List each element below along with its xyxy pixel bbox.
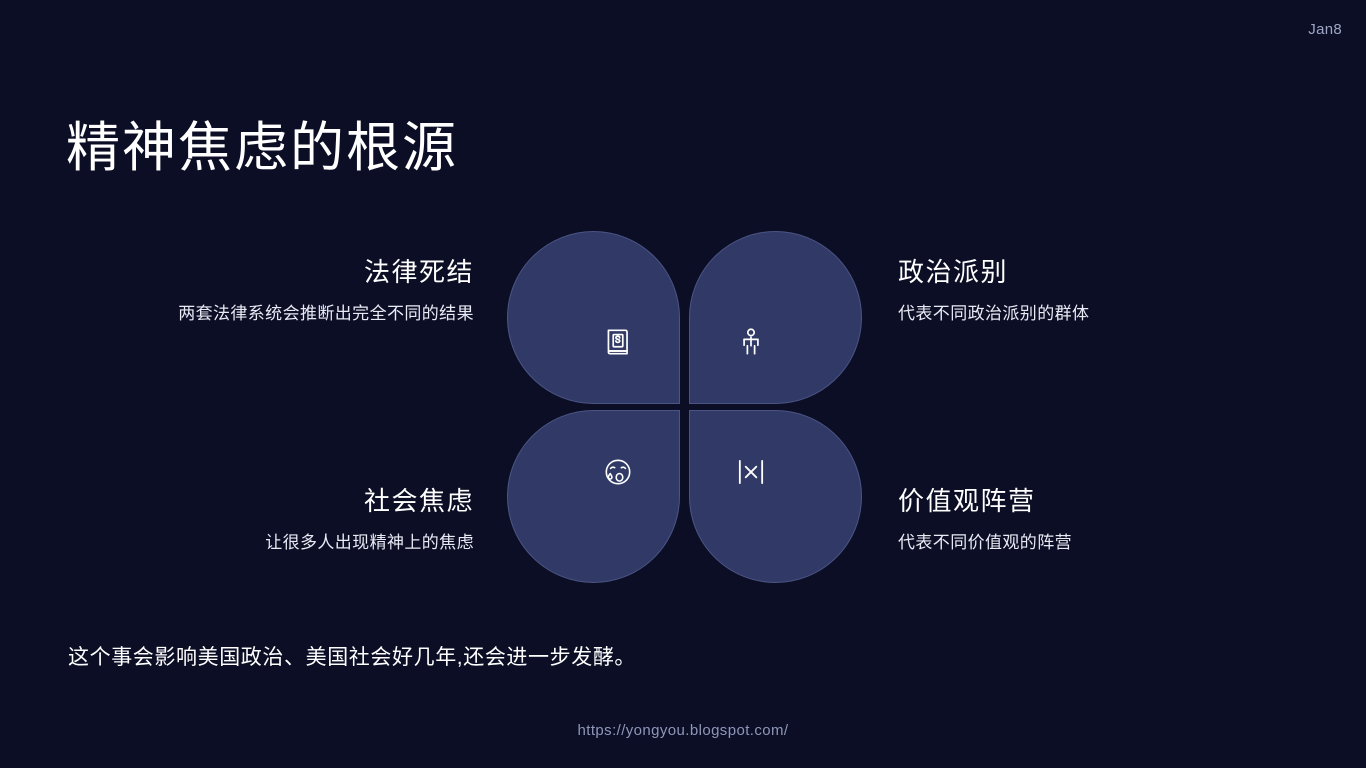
person-icon xyxy=(734,325,768,359)
quadrant-description: 两套法律系统会推断出完全不同的结果 xyxy=(178,303,474,325)
footer-source-url[interactable]: https://yongyou.blogspot.com/ xyxy=(0,722,1366,739)
quadrant-description: 代表不同价值观的阵营 xyxy=(898,532,1072,554)
slide-caption: 这个事会影响美国政治、美国社会好几年,还会进一步发酵。 xyxy=(68,644,636,671)
date-badge: Jan8 xyxy=(1308,22,1342,37)
quadrant-description: 代表不同政治派别的群体 xyxy=(898,303,1089,325)
quadrant-label-top-right: 政治派别 代表不同政治派别的群体 xyxy=(898,256,1089,325)
quadrant-label-bottom-right: 价值观阵营 代表不同价值观的阵营 xyxy=(898,485,1072,554)
clover-diagram xyxy=(507,231,862,583)
quadrant-heading: 价值观阵营 xyxy=(898,485,1072,518)
petal-top-right[interactable] xyxy=(689,231,862,404)
quadrant-heading: 政治派别 xyxy=(898,256,1089,289)
quadrant-label-top-left: 法律死结 两套法律系统会推断出完全不同的结果 xyxy=(178,256,474,325)
quadrant-heading: 社会焦虑 xyxy=(265,485,474,518)
quadrant-description: 让很多人出现精神上的焦虑 xyxy=(265,532,474,554)
conflict-x-icon xyxy=(734,455,768,489)
quadrant-heading: 法律死结 xyxy=(178,256,474,289)
crying-face-icon xyxy=(601,455,635,489)
petal-bottom-right[interactable] xyxy=(689,410,862,583)
presentation-slide: Jan8 精神焦虑的根源 xyxy=(0,0,1366,768)
page-title: 精神焦虑的根源 xyxy=(66,118,458,178)
law-book-icon xyxy=(601,325,635,359)
petal-top-left[interactable] xyxy=(507,231,680,404)
petal-bottom-left[interactable] xyxy=(507,410,680,583)
quadrant-label-bottom-left: 社会焦虑 让很多人出现精神上的焦虑 xyxy=(265,485,474,554)
